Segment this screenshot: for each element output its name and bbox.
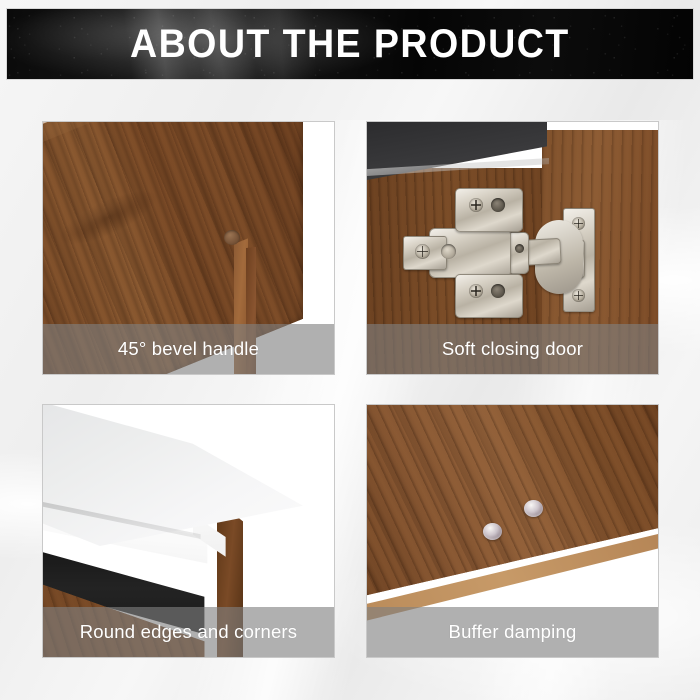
feature-caption-band: Round edges and corners [43, 607, 334, 657]
feature-card-bevel-handle[interactable]: 45° bevel handle [42, 121, 335, 375]
hinge-cup-screw-bottom [469, 284, 483, 298]
feature-caption-band: Soft closing door [367, 324, 658, 374]
feature-caption-text: Round edges and corners [80, 621, 298, 643]
hinge-hole-center [441, 244, 456, 259]
hinge-cup-bottom-wing [455, 274, 523, 318]
buffer-pad-icon-right [524, 500, 543, 517]
feature-caption-text: Buffer damping [449, 621, 577, 643]
hinge-hole-bottom [491, 284, 505, 298]
hinge-cup-screw-top [469, 198, 483, 212]
white-tabletop-surface [43, 405, 303, 546]
header-banner: ABOUT THE PRODUCT [6, 8, 694, 80]
screw-cap-plug-icon [224, 230, 240, 245]
hinge-hole-top [491, 198, 505, 212]
feature-card-soft-closing-door[interactable]: Soft closing door [366, 121, 659, 375]
buffer-pad-icon-left [483, 523, 502, 540]
page-background: ABOUT THE PRODUCT 45° bevel handle [0, 0, 700, 700]
feature-card-round-edges[interactable]: Round edges and corners [42, 404, 335, 658]
hinge-plate-screw-bottom [572, 289, 585, 302]
feature-caption-band: 45° bevel handle [43, 324, 334, 374]
hinge-cup-top-wing [455, 188, 523, 232]
hinge-pivot-pin [515, 244, 524, 253]
feature-card-buffer-damping[interactable]: Buffer damping [366, 404, 659, 658]
hinge-tail-screw [415, 244, 430, 259]
page-title: ABOUT THE PRODUCT [130, 22, 570, 67]
feature-grid: 45° bevel handle [0, 0, 700, 700]
feature-caption-band: Buffer damping [367, 607, 658, 657]
feature-caption-text: Soft closing door [442, 338, 583, 360]
feature-caption-text: 45° bevel handle [118, 338, 259, 360]
